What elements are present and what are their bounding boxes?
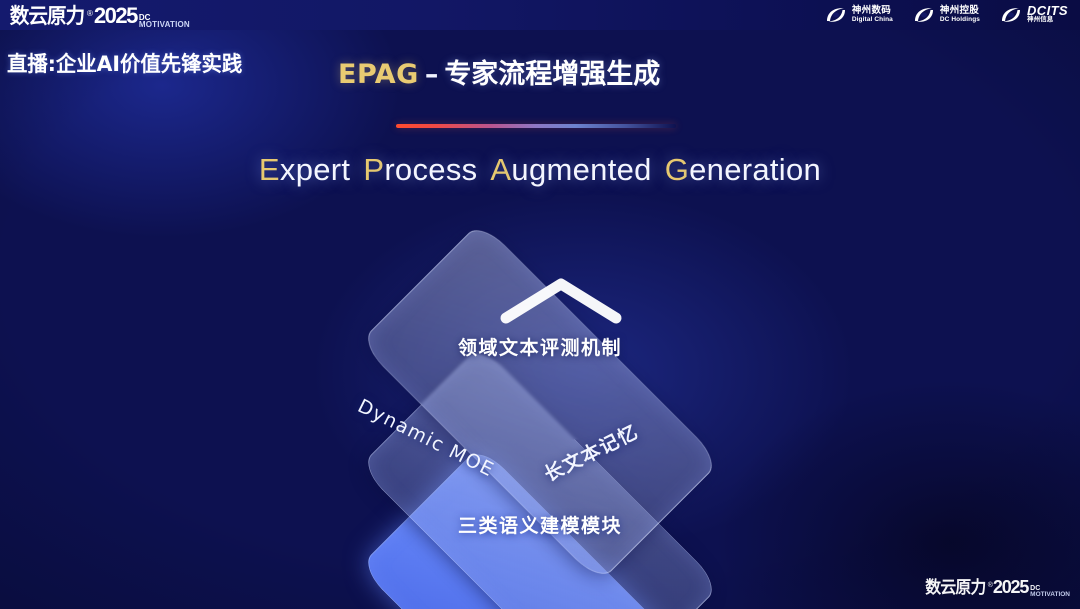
- expansion-initial-p: P: [363, 152, 384, 187]
- partner-cn-digital-china: 神州数码: [852, 6, 893, 15]
- live-stream-subtitle: 直播:企业AI价值先锋实践: [7, 48, 242, 78]
- expansion-rest-expert: xpert: [280, 152, 350, 187]
- partner-brand-dcits: DCITS: [1027, 6, 1068, 15]
- expansion-word-augmented: Augmented: [490, 152, 651, 187]
- expansion-initial-a: A: [490, 152, 511, 187]
- watermark-logo: 数云原力 ® 2025 DC MOTIVATION: [923, 573, 1070, 601]
- partner-en-digital-china: Digital China: [852, 15, 893, 24]
- brand-logo: 数云原力 ® 2025 DC MOTIVATION: [0, 0, 190, 31]
- partner-text-digital-china: 神州数码 Digital China: [852, 6, 893, 24]
- watermark-registered-mark: ®: [988, 582, 993, 589]
- expansion-rest-generation: eneration: [689, 152, 821, 187]
- expansion-rest-process: rocess: [384, 152, 477, 187]
- partner-logo-digital-china: 神州数码 Digital China: [825, 6, 893, 24]
- watermark-logo-year: 2025: [993, 577, 1028, 598]
- acronym-expansion: ExpertProcessAugmentedGeneration: [0, 152, 1080, 188]
- page-title-acronym: EPAG: [338, 59, 419, 90]
- chevron-up-icon: [496, 274, 626, 326]
- epag-layer-diagram: 领域文本评测机制 Dynamic MOE 长文本记忆 三类语义建模模块: [290, 228, 790, 568]
- swirl-logo-icon: [825, 6, 847, 24]
- expansion-rest-augmented: ugmented: [511, 152, 651, 187]
- partner-en-dc-holdings: DC Holdings: [940, 15, 980, 24]
- diagram-layer-top[interactable]: [290, 232, 630, 572]
- expansion-word-expert: Expert: [259, 152, 350, 187]
- partner-logo-group: 神州数码 Digital China 神州控股 DC Holdings: [825, 6, 1080, 24]
- expansion-word-generation: Generation: [665, 152, 821, 187]
- expansion-word-process: Process: [363, 152, 477, 187]
- swirl-logo-icon: [1000, 6, 1022, 24]
- brand-logo-registered-mark: ®: [87, 9, 93, 18]
- watermark-logo-cn: 数云原力: [925, 573, 985, 598]
- title-divider: [396, 124, 676, 128]
- page-title: EPAG–专家流程增强生成: [338, 52, 660, 91]
- brand-logo-motivation: MOTIVATION: [139, 21, 190, 28]
- swirl-logo-icon: [913, 6, 935, 24]
- page-title-chinese: 专家流程增强生成: [444, 59, 660, 90]
- brand-logo-year: 2025: [94, 3, 137, 29]
- partner-logo-dcits: DCITS 神州信息: [1000, 6, 1068, 24]
- expansion-initial-e: E: [259, 152, 280, 187]
- brand-logo-tagline: DC MOTIVATION: [139, 14, 190, 28]
- partner-text-dcits: DCITS 神州信息: [1027, 6, 1068, 24]
- top-bar: 数云原力 ® 2025 DC MOTIVATION 神州数码 Digital C…: [0, 0, 1080, 30]
- page-title-dash: –: [425, 59, 439, 90]
- watermark-motivation: MOTIVATION: [1030, 592, 1070, 598]
- watermark-tagline: DC MOTIVATION: [1030, 586, 1070, 598]
- partner-cn-dc-holdings: 神州控股: [940, 6, 980, 15]
- partner-text-dc-holdings: 神州控股 DC Holdings: [940, 6, 980, 24]
- brand-logo-cn: 数云原力: [10, 0, 84, 30]
- partner-logo-dc-holdings: 神州控股 DC Holdings: [913, 6, 980, 24]
- expansion-initial-g: G: [665, 152, 689, 187]
